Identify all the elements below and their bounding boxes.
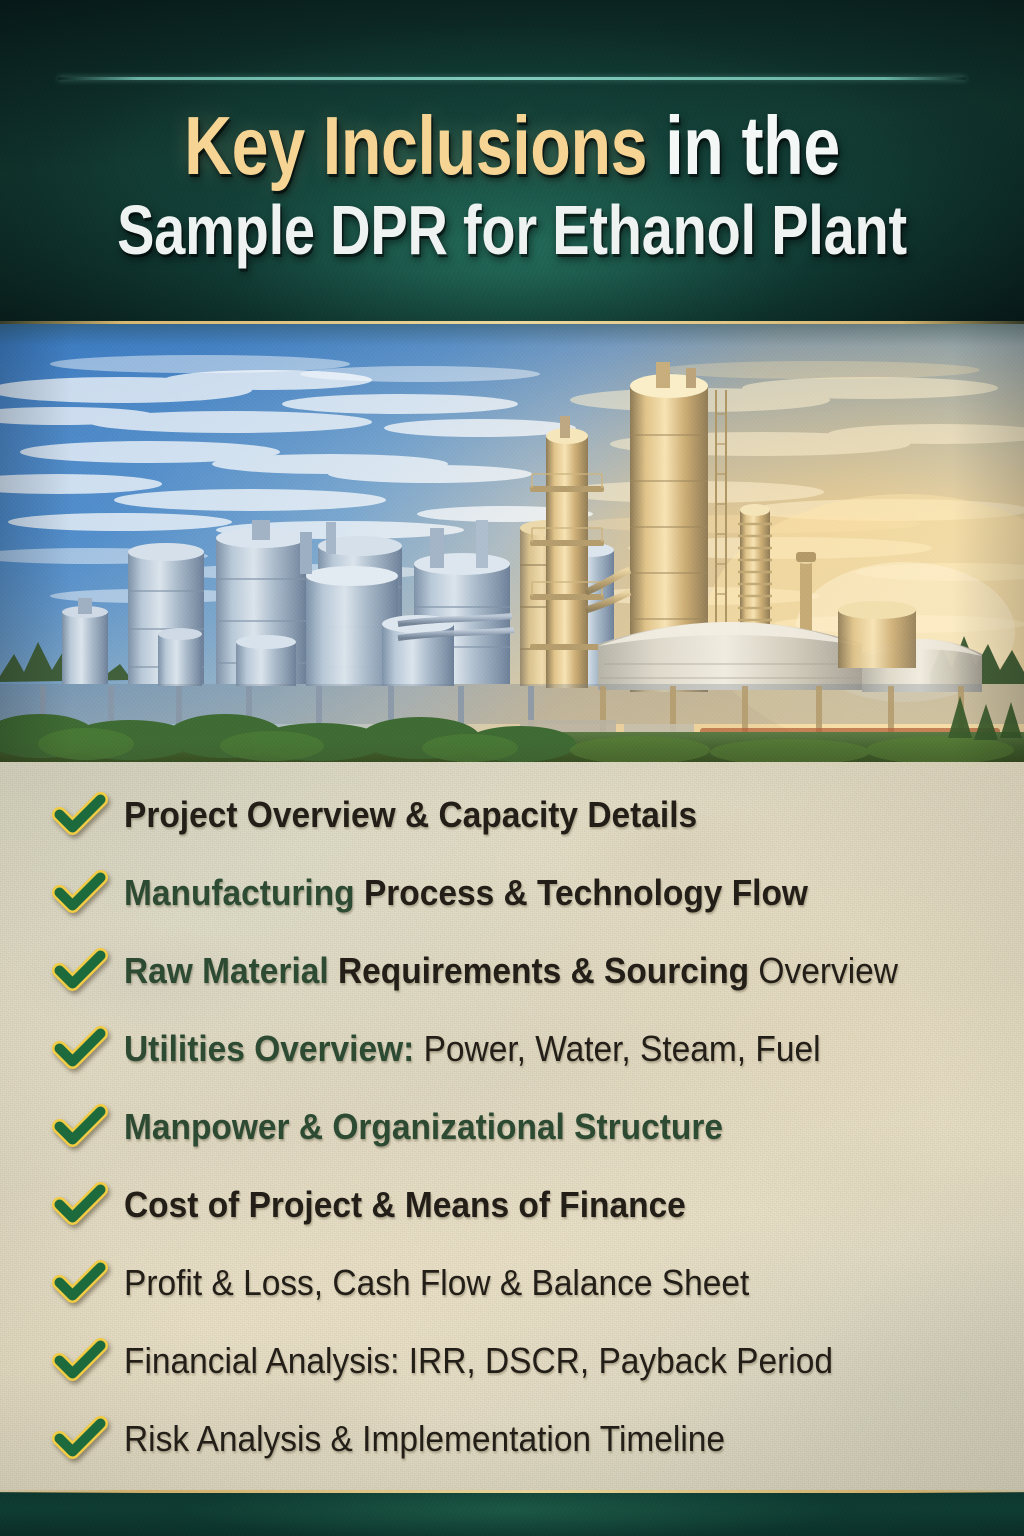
list-item: Risk Analysis & Implementation Timeline (52, 1408, 1004, 1470)
list-item: Raw Material Requirements & Sourcing Ove… (52, 940, 1004, 1002)
inclusions-panel: Project Overview & Capacity DetailsManuf… (0, 762, 1024, 1492)
list-item-segment: Requirements & Sourcing (338, 950, 758, 991)
plant-illustration (0, 324, 1024, 762)
list-item-segment: Raw Material (124, 950, 338, 991)
title-line-2: Sample DPR for Ethanol Plant (102, 195, 921, 265)
list-item-label: Profit & Loss, Cash Flow & Balance Sheet (124, 1265, 749, 1301)
poster-header: Key Inclusions in the Sample DPR for Eth… (0, 0, 1024, 324)
list-item: Manufacturing Process & Technology Flow (52, 862, 1004, 924)
list-item: Manpower & Organizational Structure (52, 1096, 1004, 1158)
list-item-label: Project Overview & Capacity Details (124, 797, 697, 833)
list-item-segment: Manpower & Organizational Structure (124, 1106, 723, 1147)
list-item: Project Overview & Capacity Details (52, 784, 1004, 846)
hero-plant-photo (0, 324, 1024, 762)
list-item-segment: Project Overview & Capacity Details (124, 794, 697, 835)
list-item: Cost of Project & Means of Finance (52, 1174, 1004, 1236)
list-item-segment: Manufacturing (124, 872, 364, 913)
check-icon (52, 1026, 108, 1072)
list-item-segment: Risk Analysis & Implementation Timeline (124, 1418, 725, 1459)
list-item: Utilities Overview: Power, Water, Steam,… (52, 1018, 1004, 1080)
list-item-label: Financial Analysis: IRR, DSCR, Payback P… (124, 1343, 833, 1379)
list-item-segment: Power, Water, Steam, Fuel (424, 1028, 821, 1069)
check-icon (52, 948, 108, 994)
title-rest-text: in the (647, 99, 840, 192)
list-item-label: Raw Material Requirements & Sourcing Ove… (124, 953, 898, 989)
check-icon (52, 870, 108, 916)
check-icon (52, 1104, 108, 1150)
list-item-label: Risk Analysis & Implementation Timeline (124, 1421, 725, 1457)
list-item-segment: Overview (758, 950, 898, 991)
header-bottom-divider (0, 321, 1024, 324)
check-icon (52, 792, 108, 838)
list-item-label: Manpower & Organizational Structure (124, 1109, 723, 1145)
poster-footer (0, 1492, 1024, 1536)
check-icon (52, 1182, 108, 1228)
list-item-segment: Utilities Overview: (124, 1028, 424, 1069)
footer-texture (0, 1492, 1024, 1536)
footer-top-divider (0, 1490, 1024, 1493)
poster-title: Key Inclusions in the Sample DPR for Eth… (0, 104, 1024, 265)
check-icon (52, 1260, 108, 1306)
list-item-segment: Cost of Project & Means of Finance (124, 1184, 686, 1225)
list-item: Profit & Loss, Cash Flow & Balance Sheet (52, 1252, 1004, 1314)
list-item-segment: Process & Technology Flow (364, 872, 808, 913)
list-item-segment: Profit & Loss, Cash Flow & Balance Sheet (124, 1262, 749, 1303)
list-item-label: Manufacturing Process & Technology Flow (124, 875, 808, 911)
check-icon (52, 1338, 108, 1384)
list-item-segment: Financial Analysis: IRR, DSCR, Payback P… (124, 1340, 833, 1381)
title-accent-text: Key Inclusions (184, 99, 647, 192)
list-item-label: Utilities Overview: Power, Water, Steam,… (124, 1031, 821, 1067)
list-item: Financial Analysis: IRR, DSCR, Payback P… (52, 1330, 1004, 1392)
header-top-rule (58, 77, 966, 80)
title-line-1: Key Inclusions in the (102, 104, 921, 187)
list-item-label: Cost of Project & Means of Finance (124, 1187, 686, 1223)
inclusions-list: Project Overview & Capacity DetailsManuf… (0, 762, 1024, 1492)
check-icon (52, 1416, 108, 1462)
infographic-poster: Key Inclusions in the Sample DPR for Eth… (0, 0, 1024, 1536)
